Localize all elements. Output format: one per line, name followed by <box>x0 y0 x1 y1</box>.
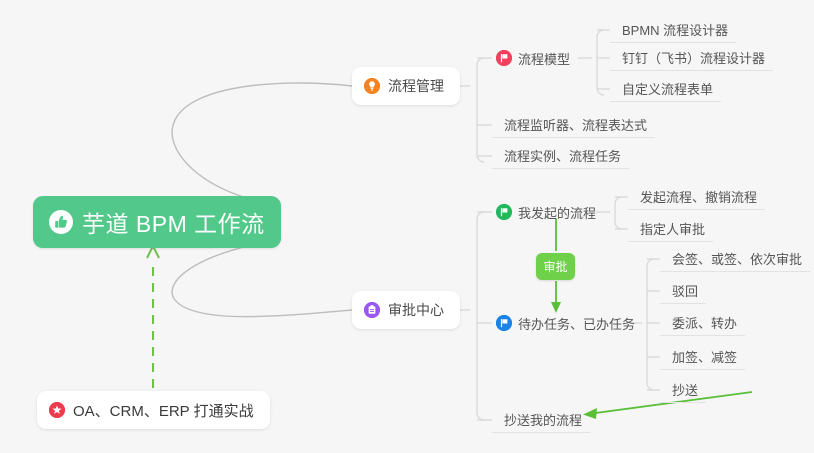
flag-icon <box>496 50 512 66</box>
leaf-label: 加签、减签 <box>672 347 737 366</box>
leaf-zhidingren-shenpi[interactable]: 指定人审批 <box>628 216 713 242</box>
subnode-liucheng-moxing[interactable]: 流程模型 <box>492 45 578 71</box>
branch-label: 审批中心 <box>388 300 444 320</box>
leaf-custom-form[interactable]: 自定义流程表单 <box>610 76 721 102</box>
root-label: 芋道 BPM 工作流 <box>82 205 265 239</box>
leaf-label: BPMN 流程设计器 <box>622 20 728 39</box>
branch-label: 流程管理 <box>388 76 444 96</box>
leaf-liucheng-jiantingqi[interactable]: 流程监听器、流程表达式 <box>492 112 655 138</box>
link-root-to-liucheng-guanli <box>172 83 352 205</box>
link-daiban-bracket <box>647 259 654 390</box>
branch-node-liucheng-guanli[interactable]: 流程管理 <box>352 67 460 105</box>
branch-node-shenpi-zhongxin[interactable]: 审批中心 <box>352 291 460 329</box>
subnode-daiban-yiban-renwu[interactable]: 待办任务、已办任务 <box>492 310 643 336</box>
leaf-bpmn-designer[interactable]: BPMN 流程设计器 <box>610 17 736 43</box>
subnode-wofaqi-liucheng[interactable]: 我发起的流程 <box>492 199 604 225</box>
leaf-huiqian-huoqian-yicishenpi[interactable]: 会签、或签、依次审批 <box>660 246 810 272</box>
leaf-chaosong-wode-liucheng[interactable]: 抄送我的流程 <box>492 407 590 433</box>
leaf-label: 抄送 <box>672 380 698 399</box>
subnode-label: 流程模型 <box>518 49 570 68</box>
subnode-label: 我发起的流程 <box>518 203 596 222</box>
approval-flow-pill-label: 审批 <box>543 258 567 275</box>
leaf-chaosong[interactable]: 抄送 <box>660 377 706 403</box>
root-node[interactable]: 芋道 BPM 工作流 <box>33 196 281 248</box>
lightbulb-pin-icon <box>364 78 380 94</box>
leaf-weipai-zhuanban[interactable]: 委派、转办 <box>660 310 745 336</box>
thumbs-up-icon <box>49 210 73 234</box>
leaf-label: 指定人审批 <box>640 219 705 238</box>
leaf-label: 委派、转办 <box>672 313 737 332</box>
leaf-jiaqian-jianqian[interactable]: 加签、减签 <box>660 344 745 370</box>
approval-flow-pill[interactable]: 审批 <box>536 253 575 280</box>
clipboard-icon <box>364 302 380 318</box>
link-moxing-bracket <box>597 30 604 95</box>
star-icon <box>49 402 65 418</box>
leaf-bohui[interactable]: 驳回 <box>660 278 706 304</box>
leaf-label: 自定义流程表单 <box>622 79 713 98</box>
flag-icon <box>496 204 512 220</box>
leaf-label: 抄送我的流程 <box>504 410 582 429</box>
link-root-to-shenpi-zhongxin <box>172 240 352 317</box>
leaf-label: 钉钉（飞书）流程设计器 <box>622 48 765 67</box>
flag-icon <box>496 315 512 331</box>
leaf-liucheng-shili[interactable]: 流程实例、流程任务 <box>492 143 629 169</box>
leaf-label: 发起流程、撤销流程 <box>640 187 757 206</box>
leaf-label: 流程监听器、流程表达式 <box>504 115 647 134</box>
subnode-label: 待办任务、已办任务 <box>518 314 635 333</box>
callout-label: OA、CRM、ERP 打通实战 <box>73 400 254 421</box>
leaf-faqi-chexiao-liucheng[interactable]: 发起流程、撤销流程 <box>628 184 765 210</box>
leaf-label: 会签、或签、依次审批 <box>672 249 802 268</box>
link-shenpi-zhongxin-bracket <box>477 212 484 420</box>
mindmap-canvas: 芋道 BPM 工作流 流程管理 流程模型 BPMN 流程设计器 钉钉（飞书 <box>0 0 814 453</box>
callout-node-oa-crm-erp[interactable]: OA、CRM、ERP 打通实战 <box>37 391 270 429</box>
link-liucheng-guanli-bracket <box>477 58 484 162</box>
leaf-label: 流程实例、流程任务 <box>504 146 621 165</box>
leaf-label: 驳回 <box>672 281 698 300</box>
link-wofaqi-bracket <box>615 197 622 229</box>
leaf-dingding-designer[interactable]: 钉钉（飞书）流程设计器 <box>610 45 773 71</box>
